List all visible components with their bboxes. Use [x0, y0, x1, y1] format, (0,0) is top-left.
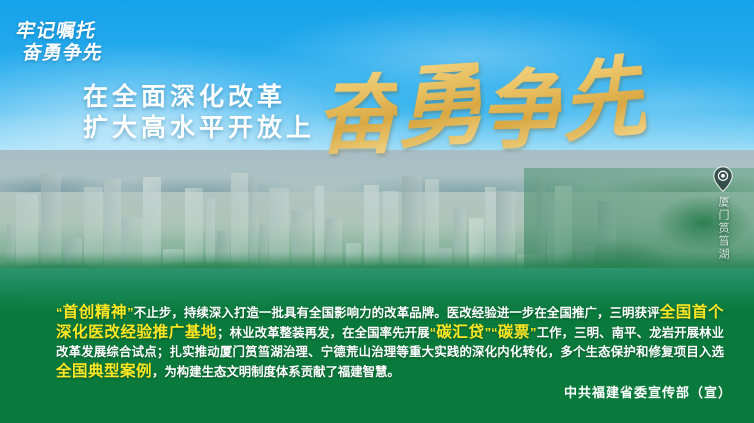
calligraphy-char-3: 争: [478, 39, 562, 166]
headline: 在全面深化改革 扩大高水平开放上: [83, 82, 315, 143]
poster-root: 牢记嘱托 奋勇争先 在全面深化改革 扩大高水平开放上 奋勇争先 厦门筼筜湖 “首…: [0, 0, 754, 423]
body-copy: “首创精神”不止步，持续深入打造一批具有全国影响力的改革品牌。医改经验进一步在全…: [34, 303, 724, 382]
body-text-1: 不止步，持续深入打造一批具有全国影响力的改革品牌。医改经验进一步在全国推广，: [134, 306, 610, 320]
body-copy-paragraph: “首创精神”不止步，持续深入打造一批具有全国影响力的改革品牌。医改经验进一步在全…: [34, 303, 724, 382]
headline-line-1: 在全面深化改革: [83, 82, 315, 113]
body-text-2: 三明获评: [610, 306, 660, 320]
logo-line-2: 奋勇争先: [21, 44, 105, 63]
calligraphy-char-1: 奋: [315, 45, 398, 171]
map-pin-icon: [713, 166, 733, 192]
attribution: 中共福建省委宣传部（宣）: [564, 382, 732, 401]
location-label: 厦门筼筜湖: [715, 196, 731, 261]
location-tag: 厦门筼筜湖: [710, 166, 736, 261]
highlight-national-case: 全国典型案例: [56, 363, 152, 380]
body-text-3: ；林业改革整装再发，在全国率先开展: [217, 326, 430, 340]
campaign-logo: 牢记嘱托 奋勇争先: [10, 22, 109, 63]
highlight-carbon-sink-loan: 碳汇贷: [436, 324, 484, 341]
logo-line-1: 牢记嘱托: [14, 22, 109, 41]
calligraphy-char-4: 先: [555, 25, 649, 159]
headline-line-2: 扩大高水平开放上: [83, 113, 315, 144]
gold-calligraphy-title: 奋勇争先: [312, 29, 645, 169]
calligraphy-char-2: 勇: [391, 31, 484, 166]
body-text-5: ，为构建生态文明制度体系贡献了福建智慧。: [152, 365, 400, 379]
highlight-first-spirit: 首创精神: [63, 304, 128, 321]
highlight-carbon-ticket: 碳票: [498, 324, 530, 341]
